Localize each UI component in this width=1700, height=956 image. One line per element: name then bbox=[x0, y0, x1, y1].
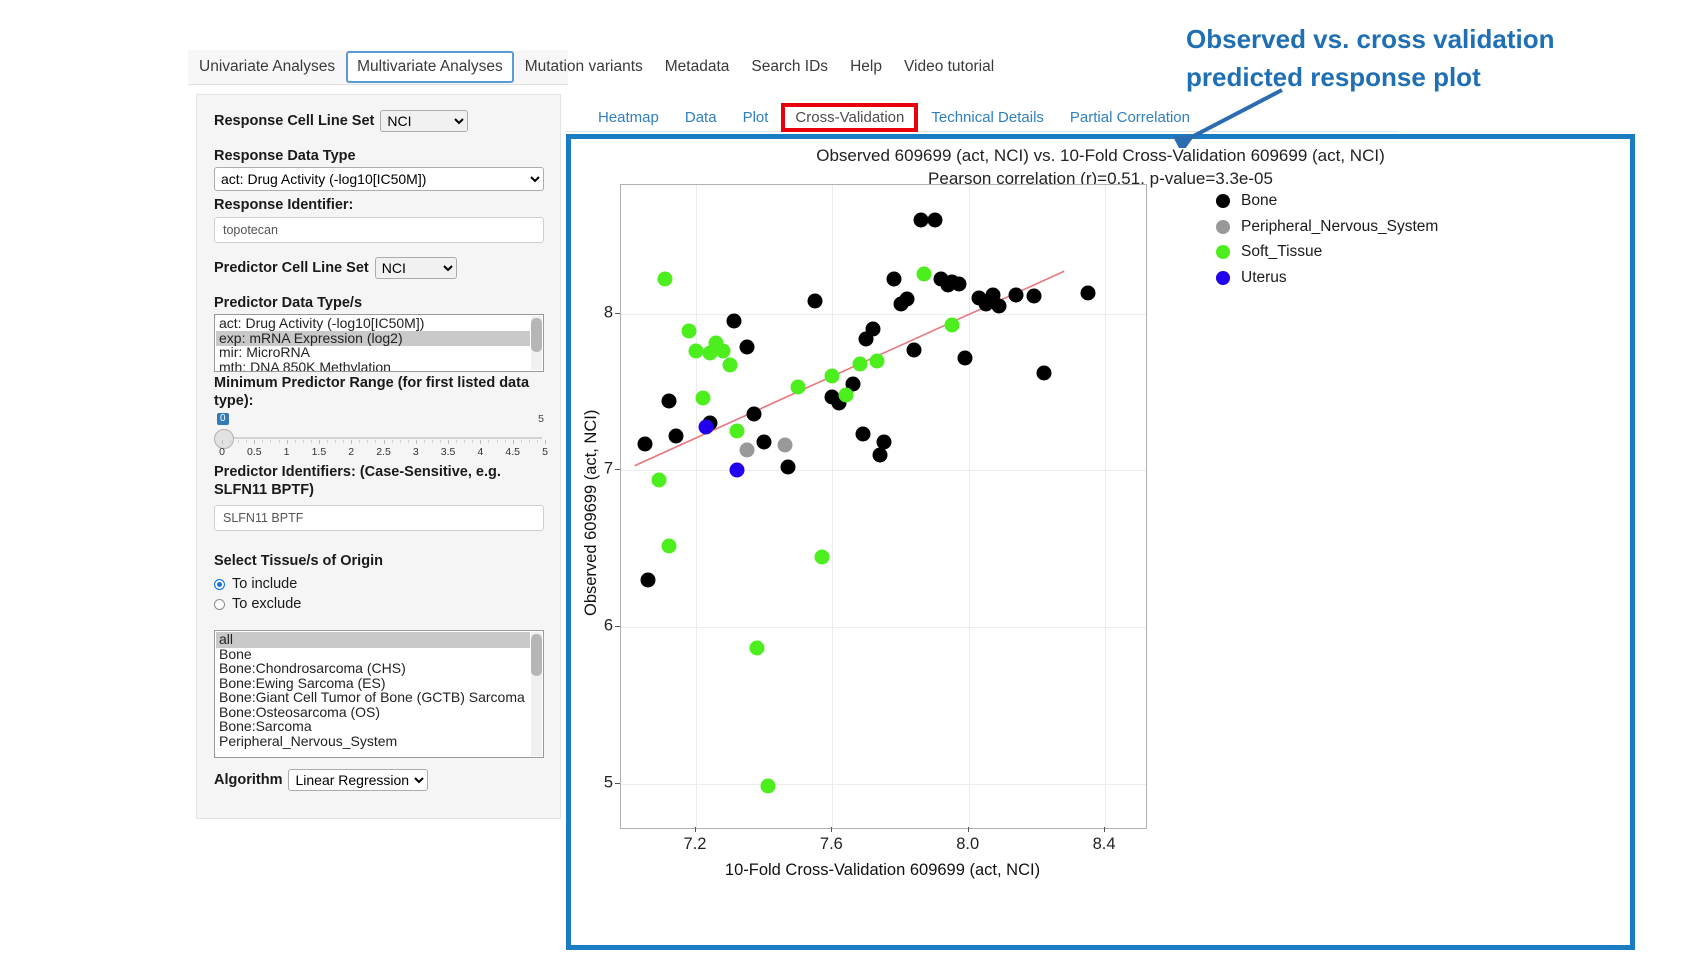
legend-color-swatch bbox=[1216, 271, 1230, 285]
scatter-point bbox=[760, 778, 775, 793]
scatter-point bbox=[815, 549, 830, 564]
scatter-point bbox=[757, 435, 772, 450]
response-data-type-select[interactable]: act: Drug Activity (-log10[IC50M]) bbox=[214, 167, 544, 191]
slider-tick bbox=[384, 440, 385, 444]
response-data-type-label: Response Data Type bbox=[214, 147, 356, 165]
scatter-point bbox=[866, 322, 881, 337]
slider-minor-tick bbox=[537, 440, 538, 443]
slider-minor-tick bbox=[359, 440, 360, 443]
main-nav-tabs: Univariate AnalysesMultivariate Analyses… bbox=[188, 50, 1005, 84]
scatter-point bbox=[856, 427, 871, 442]
scatter-point bbox=[746, 406, 761, 421]
slider-minor-tick bbox=[335, 440, 336, 443]
predictor-identifiers-label: Predictor Identifiers: (Case-Sensitive, … bbox=[214, 463, 534, 499]
slider-tick-label: 1.5 bbox=[312, 446, 327, 458]
slider-minor-tick bbox=[279, 440, 280, 443]
scatter-point bbox=[682, 323, 697, 338]
scatter-point bbox=[958, 350, 973, 365]
scatter-point bbox=[839, 388, 854, 403]
scatter-point bbox=[900, 292, 915, 307]
y-axis-tick bbox=[615, 783, 620, 784]
controls-sidebar: Response Cell Line Set NCI Response Data… bbox=[196, 94, 561, 819]
y-axis-label: Observed 609699 (act, NCI) bbox=[582, 409, 601, 615]
y-axis-tick bbox=[615, 313, 620, 314]
x-axis-tick-label: 7.2 bbox=[684, 835, 707, 854]
scatter-point bbox=[740, 443, 755, 458]
plot-tab-cross-validation[interactable]: Cross-Validation bbox=[781, 103, 918, 132]
predictor-data-types-listbox[interactable]: act: Drug Activity (-log10[IC50M])exp: m… bbox=[214, 314, 544, 372]
x-axis-tick-label: 8.4 bbox=[1093, 835, 1116, 854]
nav-tab-metadata[interactable]: Metadata bbox=[654, 51, 741, 83]
y-axis-tick-label: 5 bbox=[585, 774, 613, 793]
slider-minor-tick bbox=[375, 440, 376, 443]
predictor-identifiers-input[interactable] bbox=[214, 505, 544, 531]
y-axis-tick bbox=[615, 469, 620, 470]
slider-minor-tick bbox=[497, 440, 498, 443]
plot-tab-technical-details[interactable]: Technical Details bbox=[918, 105, 1057, 130]
scatter-point bbox=[651, 472, 666, 487]
slider-minor-tick bbox=[367, 440, 368, 443]
y-axis-tick bbox=[615, 626, 620, 627]
scatter-point bbox=[951, 276, 966, 291]
plot-tab-heatmap[interactable]: Heatmap bbox=[585, 105, 672, 130]
tissue-mode-radio-group: To includeTo exclude bbox=[214, 572, 301, 612]
nav-tab-help[interactable]: Help bbox=[839, 51, 893, 83]
x-axis-tick bbox=[968, 827, 969, 832]
scatter-point bbox=[808, 294, 823, 309]
scatter-point bbox=[750, 640, 765, 655]
scatter-point bbox=[1009, 287, 1024, 302]
slider-tick bbox=[448, 440, 449, 444]
nav-tab-video-tutorial[interactable]: Video tutorial bbox=[893, 51, 1005, 83]
slider-minor-tick bbox=[432, 440, 433, 443]
plot-tabs: HeatmapDataPlotCross-ValidationTechnical… bbox=[585, 103, 1203, 132]
scatter-point bbox=[825, 369, 840, 384]
slider-minor-tick bbox=[424, 440, 425, 443]
chart-legend: BonePeripheral_Nervous_SystemSoft_Tissue… bbox=[1216, 189, 1438, 291]
scatter-point bbox=[944, 317, 959, 332]
predictor-cell-line-set-select[interactable]: NCI bbox=[375, 257, 457, 279]
slider-tick bbox=[254, 440, 255, 444]
legend-item[interactable]: Soft_Tissue bbox=[1216, 240, 1438, 264]
predictor-listbox-scroll-thumb[interactable] bbox=[531, 318, 542, 352]
slider-minor-tick bbox=[295, 440, 296, 443]
scatter-point bbox=[876, 435, 891, 450]
scatter-point bbox=[917, 267, 932, 282]
legend-color-swatch bbox=[1216, 245, 1230, 259]
slider-tick-label: 3.5 bbox=[441, 446, 456, 458]
scatter-point bbox=[661, 538, 676, 553]
scatter-point bbox=[729, 424, 744, 439]
legend-color-swatch bbox=[1216, 220, 1230, 234]
slider-tick bbox=[545, 440, 546, 444]
nav-tab-univariate-analyses[interactable]: Univariate Analyses bbox=[188, 51, 346, 83]
slider-minor-tick bbox=[303, 440, 304, 443]
scatter-point bbox=[777, 438, 792, 453]
nav-tab-multivariate-analyses[interactable]: Multivariate Analyses bbox=[346, 51, 514, 83]
list-item[interactable]: mth: DNA 850K Methylation bbox=[216, 360, 530, 373]
slider-tick-label: 2 bbox=[348, 446, 354, 458]
scatter-point bbox=[1036, 366, 1051, 381]
legend-color-swatch bbox=[1216, 194, 1230, 208]
slider-minor-tick bbox=[488, 440, 489, 443]
scatter-point bbox=[869, 353, 884, 368]
slider-minor-tick bbox=[311, 440, 312, 443]
slider-minor-tick bbox=[408, 440, 409, 443]
scatter-point bbox=[791, 380, 806, 395]
scatter-point bbox=[726, 314, 741, 329]
scatter-point bbox=[641, 573, 656, 588]
slider-minor-tick bbox=[464, 440, 465, 443]
legend-item[interactable]: Uterus bbox=[1216, 266, 1438, 290]
slider-minor-tick bbox=[238, 440, 239, 443]
legend-label: Uterus bbox=[1241, 269, 1287, 287]
scatter-point bbox=[668, 428, 683, 443]
scatter-point bbox=[729, 463, 744, 478]
x-axis-tick-label: 7.6 bbox=[820, 835, 843, 854]
scatter-point bbox=[927, 212, 942, 227]
scatter-point bbox=[716, 344, 731, 359]
slider-track bbox=[221, 437, 542, 439]
legend-label: Peripheral_Nervous_System bbox=[1241, 218, 1438, 236]
slider-minor-tick bbox=[327, 440, 328, 443]
slider-tick bbox=[480, 440, 481, 444]
slider-tick bbox=[287, 440, 288, 444]
plot-tab-plot[interactable]: Plot bbox=[730, 105, 782, 130]
tissue-listbox[interactable]: allBoneBone:Chondrosarcoma (CHS)Bone:Ewi… bbox=[214, 630, 544, 758]
y-axis-tick-label: 8 bbox=[585, 303, 613, 322]
scatter-point bbox=[1026, 289, 1041, 304]
response-cell-line-set-row: Response Cell Line Set NCI bbox=[214, 110, 468, 132]
scatter-point bbox=[781, 460, 796, 475]
x-axis-label: 10-Fold Cross-Validation 609699 (act, NC… bbox=[620, 861, 1145, 880]
slider-tick-label: 2.5 bbox=[376, 446, 391, 458]
slider-minor-tick bbox=[246, 440, 247, 443]
slider-minor-tick bbox=[529, 440, 530, 443]
slider-minor-tick bbox=[472, 440, 473, 443]
slider-tick bbox=[319, 440, 320, 444]
slider-tick bbox=[416, 440, 417, 444]
x-axis-tick bbox=[695, 827, 696, 832]
slider-tick-label: 4.5 bbox=[505, 446, 520, 458]
scatter-point bbox=[907, 342, 922, 357]
slider-minor-tick bbox=[343, 440, 344, 443]
slider-minor-tick bbox=[456, 440, 457, 443]
slider-minor-tick bbox=[505, 440, 506, 443]
slider-minor-tick bbox=[262, 440, 263, 443]
legend-label: Bone bbox=[1241, 192, 1277, 210]
plot-tab-data[interactable]: Data bbox=[672, 105, 730, 130]
scatter-point bbox=[873, 447, 888, 462]
slider-max-label: 5 bbox=[538, 413, 544, 425]
x-axis-tick-label: 8.0 bbox=[956, 835, 979, 854]
scatter-point bbox=[695, 391, 710, 406]
scatter-point bbox=[740, 339, 755, 354]
radio-button[interactable] bbox=[214, 599, 225, 610]
y-axis-tick-label: 6 bbox=[585, 617, 613, 636]
chart-title-line1: Observed 609699 (act, NCI) vs. 10-Fold C… bbox=[571, 145, 1630, 168]
slider-tick-label: 4 bbox=[477, 446, 483, 458]
algorithm-select[interactable]: Linear Regression bbox=[288, 769, 428, 791]
nav-tab-mutation-variants[interactable]: Mutation variants bbox=[514, 51, 654, 83]
predictor-cell-line-set-row: Predictor Cell Line Set NCI bbox=[214, 257, 457, 279]
scatter-point bbox=[637, 436, 652, 451]
y-axis-tick-label: 7 bbox=[585, 460, 613, 479]
regression-fit-line bbox=[621, 185, 1146, 828]
min-predictor-range-slider[interactable]: 0 5 00.511.522.533.544.55 bbox=[214, 419, 544, 465]
slider-tick-label: 0 bbox=[219, 446, 225, 458]
scatter-point bbox=[992, 298, 1007, 313]
slider-minor-tick bbox=[521, 440, 522, 443]
radio-to-exclude[interactable]: To exclude bbox=[214, 596, 301, 612]
predictor-data-types-label: Predictor Data Type/s bbox=[214, 294, 362, 312]
tissue-listbox-scroll-thumb[interactable] bbox=[531, 634, 542, 676]
scatter-point bbox=[723, 358, 738, 373]
min-predictor-range-label: Minimum Predictor Range (for first liste… bbox=[214, 374, 534, 410]
x-axis-tick bbox=[1104, 827, 1105, 832]
slider-tick bbox=[351, 440, 352, 444]
scatter-point bbox=[1081, 286, 1096, 301]
algorithm-row: Algorithm Linear Regression bbox=[214, 769, 428, 791]
list-item[interactable]: Peripheral_Nervous_System bbox=[216, 734, 530, 750]
plot-panel: Observed 609699 (act, NCI) vs. 10-Fold C… bbox=[566, 134, 1635, 950]
predictor-listbox-scrollbar[interactable] bbox=[531, 316, 542, 370]
tissue-section-label: Select Tissue/s of Origin bbox=[214, 552, 383, 570]
response-cell-line-set-label: Response Cell Line Set bbox=[214, 113, 374, 130]
tissue-listbox-scrollbar[interactable] bbox=[531, 632, 542, 756]
scatter-point bbox=[661, 394, 676, 409]
slider-tick-label: 0.5 bbox=[247, 446, 262, 458]
algorithm-label: Algorithm bbox=[214, 772, 282, 789]
response-cell-line-set-select[interactable]: NCI bbox=[380, 110, 468, 132]
scatter-point bbox=[886, 272, 901, 287]
radio-button[interactable] bbox=[214, 579, 225, 590]
slider-tick bbox=[222, 440, 223, 444]
slider-tick bbox=[513, 440, 514, 444]
list-item[interactable]: all bbox=[216, 632, 530, 648]
scatter-point bbox=[658, 272, 673, 287]
slider-minor-tick bbox=[400, 440, 401, 443]
scatter-point bbox=[699, 419, 714, 434]
scatter-plot-area[interactable] bbox=[620, 184, 1147, 829]
response-identifier-label: Response Identifier: bbox=[214, 196, 353, 214]
nav-tab-search-ids[interactable]: Search IDs bbox=[740, 51, 839, 83]
x-axis-tick bbox=[831, 827, 832, 832]
radio-to-include[interactable]: To include bbox=[214, 576, 301, 592]
response-identifier-input[interactable] bbox=[214, 217, 544, 243]
slider-tick-label: 3 bbox=[413, 446, 419, 458]
slider-minor-tick bbox=[440, 440, 441, 443]
slider-value-bubble: 0 bbox=[217, 413, 229, 425]
scatter-point bbox=[852, 356, 867, 371]
slider-minor-tick bbox=[230, 440, 231, 443]
predictor-cell-line-set-label: Predictor Cell Line Set bbox=[214, 260, 369, 277]
slider-minor-tick bbox=[392, 440, 393, 443]
annotation-arrow-icon bbox=[1170, 88, 1290, 148]
radio-label: To include bbox=[232, 576, 297, 592]
radio-label: To exclude bbox=[232, 596, 301, 612]
slider-tick-label: 5 bbox=[542, 446, 548, 458]
legend-item[interactable]: Bone bbox=[1216, 189, 1438, 213]
slider-minor-tick bbox=[270, 440, 271, 443]
annotation-text: Observed vs. cross validation predicted … bbox=[1186, 20, 1606, 96]
slider-tick-label: 1 bbox=[284, 446, 290, 458]
legend-label: Soft_Tissue bbox=[1241, 243, 1322, 261]
legend-item[interactable]: Peripheral_Nervous_System bbox=[1216, 215, 1438, 239]
